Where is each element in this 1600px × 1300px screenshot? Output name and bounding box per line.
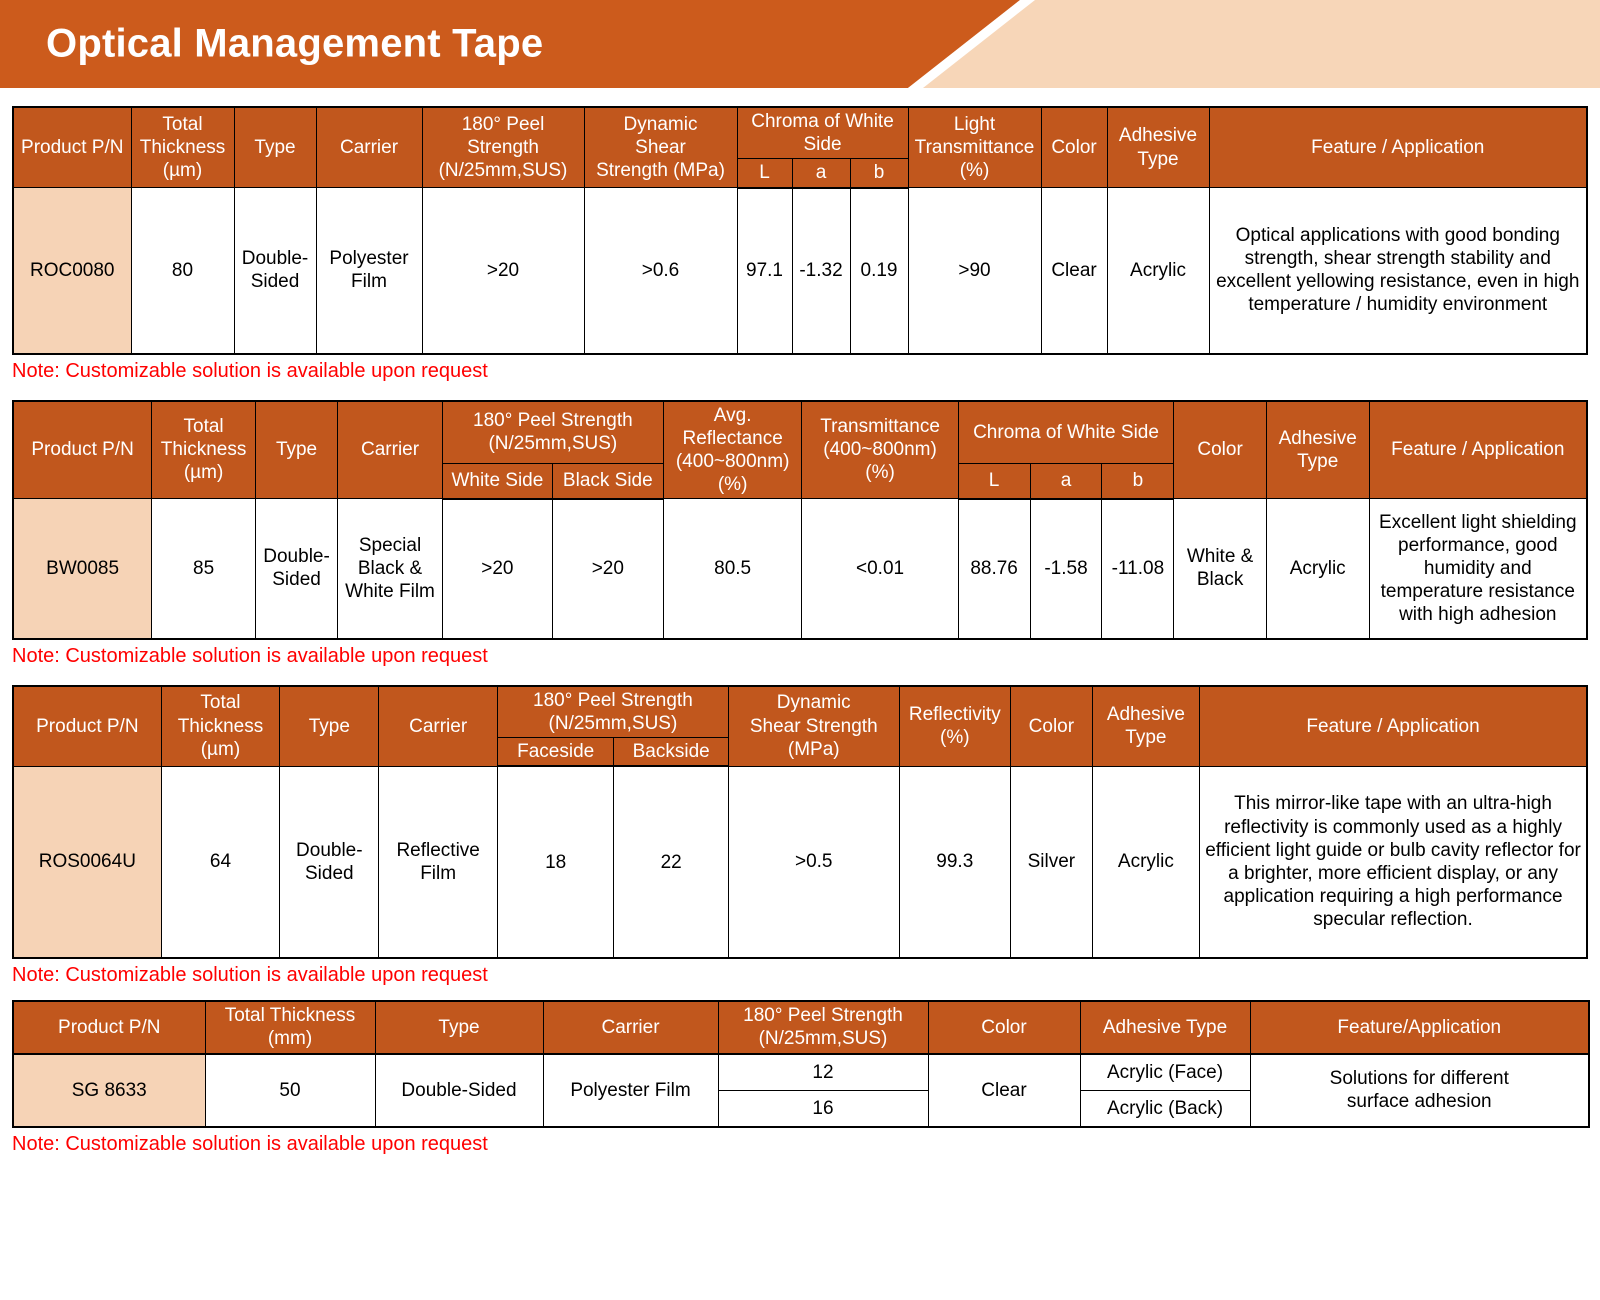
th-total-thickness-l1: Total [184, 416, 224, 437]
th-type: Type [280, 686, 379, 767]
th-product-pn: Product P/N [13, 401, 152, 499]
th-carrier: Carrier [338, 401, 443, 499]
th-peel-faceside: Faceside [497, 738, 614, 767]
cell-type: Double-Sided [375, 1054, 543, 1127]
th-peel-strength: 180° Peel Strength (N/25mm,SUS) [718, 1001, 928, 1053]
cell-feature-l1: Solutions for different [1330, 1068, 1509, 1089]
th-total-thickness-l3: (µm) [163, 160, 202, 181]
th-total-thickness: Total Thickness (µm) [152, 401, 256, 499]
table-row: ROC0080 80 Double-Sided Polyester Film >… [13, 188, 1587, 354]
table-roc0080: Product P/N Total Thickness (µm) Type Ca… [12, 106, 1588, 355]
th-peel-l3: (N/25mm,SUS) [439, 160, 568, 181]
th-peel-white-side: White Side [442, 464, 552, 499]
cell-carrier: Polyester Film [316, 188, 422, 354]
table-row: BW0085 85 Double-Sided Special Black & W… [13, 499, 1587, 639]
cell-feature-application: This mirror-like tape with an ultra-high… [1200, 766, 1587, 958]
cell-feature-application: Solutions for different surface adhesion [1250, 1054, 1589, 1127]
th-total-thickness: Total Thickness (mm) [205, 1001, 375, 1053]
th-light-l2: Transmittance [915, 137, 1035, 158]
th-peel-l1: 180° Peel Strength [533, 690, 693, 711]
th-adhesive-type: Adhesive Type [1107, 107, 1209, 188]
cell-type: Double-Sided [234, 188, 316, 354]
cell-reflectivity: 99.3 [899, 766, 1010, 958]
table-row: ROS0064U 64 Double-Sided Reflective Film… [13, 766, 1587, 958]
cell-avg-reflectance: 80.5 [663, 499, 802, 639]
table-ros0064u-head: Product P/N Total Thickness (µm) Type Ca… [13, 686, 1587, 767]
th-feature-application: Feature / Application [1369, 401, 1587, 499]
cell-color: Silver [1010, 766, 1092, 958]
table-sg8633-head: Product P/N Total Thickness (mm) Type Ca… [13, 1001, 1589, 1053]
th-feature-application: Feature / Application [1209, 107, 1587, 188]
th-total-thickness-l2: Thickness [140, 137, 226, 158]
th-avg-refl-l3: (400~800nm) [676, 451, 790, 472]
th-adhesive-type: Adhesive Type [1080, 1001, 1250, 1053]
th-product-pn: Product P/N [13, 686, 161, 767]
th-transmittance-l2: (400~800nm) [823, 439, 937, 460]
th-total-thickness-l1: Total [200, 692, 240, 713]
cell-adhesive-type: Acrylic [1092, 766, 1199, 958]
th-reflectivity-l1: Reflectivity [909, 704, 1001, 725]
spacer-3 [0, 986, 1600, 1000]
cell-adhesive-type: Acrylic [1266, 499, 1369, 639]
th-color: Color [928, 1001, 1080, 1053]
table-ros0064u-body: ROS0064U 64 Double-Sided Reflective Film… [13, 766, 1587, 958]
th-carrier: Carrier [543, 1001, 718, 1053]
page-root: Optical Management Tape Product P/N Tota… [0, 0, 1600, 1300]
cell-light-transmittance: >90 [908, 188, 1041, 354]
th-peel-l1: 180° Peel [462, 114, 545, 135]
th-total-thickness-l1: Total Thickness [225, 1005, 356, 1026]
th-adhesive-l2: Type [1137, 149, 1178, 170]
cell-chroma-b: -11.08 [1102, 499, 1174, 639]
th-peel-l1: 180° Peel Strength [743, 1005, 903, 1026]
cell-peel-white-side: >20 [442, 499, 552, 639]
th-chroma-white-side: Chroma of White Side [737, 107, 908, 159]
th-reflectivity-l2: (%) [940, 727, 970, 748]
cell-peel-bottom: 16 [719, 1091, 928, 1126]
cell-chroma-l: 97.1 [737, 188, 792, 354]
note-table-4: Note: Customizable solution is available… [12, 1133, 1600, 1155]
th-color: Color [1010, 686, 1092, 767]
th-chroma-white-side: Chroma of White Side [958, 401, 1174, 464]
spacer-1 [0, 382, 1600, 400]
cell-product-pn: ROC0080 [13, 188, 131, 354]
cell-product-pn: BW0085 [13, 499, 152, 639]
cell-chroma-b: 0.19 [850, 188, 908, 354]
header-row-1: Product P/N Total Thickness (µm) Type Ca… [13, 401, 1587, 464]
cell-transmittance: <0.01 [802, 499, 958, 639]
th-reflectivity: Reflectivity (%) [899, 686, 1010, 767]
th-transmittance-l1: Transmittance [820, 416, 940, 437]
header-row-1: Product P/N Total Thickness (µm) Type Ca… [13, 686, 1587, 738]
th-light-l1: Light [954, 114, 995, 135]
cell-adhesive-stack: Acrylic (Face) Acrylic (Back) [1080, 1054, 1250, 1127]
th-feature-application: Feature / Application [1200, 686, 1587, 767]
th-total-thickness: Total Thickness (µm) [131, 107, 234, 188]
th-feature-application: Feature/Application [1250, 1001, 1589, 1053]
note-table-2: Note: Customizable solution is available… [12, 645, 1600, 667]
th-chroma-b: b [1102, 464, 1174, 499]
table-sg8633: Product P/N Total Thickness (mm) Type Ca… [12, 1000, 1590, 1128]
cell-peel-strength-stack: 12 16 [718, 1054, 928, 1127]
note-table-3: Note: Customizable solution is available… [12, 964, 1600, 986]
cell-dynamic-shear: >0.5 [728, 766, 899, 958]
th-dynamic-l1: Dynamic [777, 692, 851, 713]
page-banner: Optical Management Tape [0, 0, 1600, 88]
cell-peel-top: 12 [719, 1055, 928, 1091]
cell-peel-black-side: >20 [552, 499, 663, 639]
th-dynamic-l2: Shear Strength [750, 716, 878, 737]
th-carrier: Carrier [316, 107, 422, 188]
th-chroma-b: b [850, 159, 908, 188]
cell-peel-faceside: 18 [497, 766, 614, 958]
th-chroma-a: a [792, 159, 850, 188]
header-row-1: Product P/N Total Thickness (mm) Type Ca… [13, 1001, 1589, 1053]
table-ros0064u: Product P/N Total Thickness (µm) Type Ca… [12, 685, 1588, 960]
th-avg-reflectance: Avg. Reflectance (400~800nm) (%) [663, 401, 802, 499]
th-total-thickness-l3: (µm) [184, 462, 223, 483]
table-ros0064u-wrapper: Product P/N Total Thickness (µm) Type Ca… [12, 685, 1588, 960]
cell-total-thickness: 85 [152, 499, 256, 639]
th-type: Type [234, 107, 316, 188]
spacer-2 [0, 667, 1600, 685]
th-transmittance-l3: (%) [865, 462, 895, 483]
th-color: Color [1041, 107, 1107, 188]
cell-chroma-a: -1.32 [792, 188, 850, 354]
cell-dynamic-shear: >0.6 [584, 188, 737, 354]
th-total-thickness-l2: Thickness [161, 439, 247, 460]
th-peel-l2: Strength [467, 137, 539, 158]
th-adhesive-type: Adhesive Type [1266, 401, 1369, 499]
th-total-thickness-l2: (mm) [268, 1028, 312, 1049]
th-transmittance: Transmittance (400~800nm) (%) [802, 401, 958, 499]
table-row: SG 8633 50 Double-Sided Polyester Film 1… [13, 1054, 1589, 1127]
th-carrier: Carrier [379, 686, 498, 767]
th-adhesive-type: Adhesive Type [1092, 686, 1199, 767]
table-roc0080-body: ROC0080 80 Double-Sided Polyester Film >… [13, 188, 1587, 354]
cell-feature-application: Excellent light shielding performance, g… [1369, 499, 1587, 639]
th-peel-strength: 180° Peel Strength (N/25mm,SUS) [497, 686, 728, 738]
th-peel-strength: 180° Peel Strength (N/25mm,SUS) [422, 107, 584, 188]
th-adhesive-l1: Adhesive [1119, 125, 1197, 146]
th-peel-l2: (N/25mm,SUS) [488, 433, 617, 454]
table-roc0080-head: Product P/N Total Thickness (µm) Type Ca… [13, 107, 1587, 188]
cell-chroma-l: 88.76 [958, 499, 1030, 639]
cell-color: White & Black [1174, 499, 1266, 639]
th-product-pn: Product P/N [13, 1001, 205, 1053]
table-sg8633-wrapper: Product P/N Total Thickness (mm) Type Ca… [12, 1000, 1588, 1128]
cell-carrier: Polyester Film [543, 1054, 718, 1127]
th-total-thickness-l3: (µm) [201, 739, 240, 760]
th-peel-strength: 180° Peel Strength (N/25mm,SUS) [442, 401, 663, 464]
cell-carrier: Special Black & White Film [338, 499, 443, 639]
cell-product-pn: SG 8633 [13, 1054, 205, 1127]
th-chroma-l: L [737, 159, 792, 188]
th-adhesive-l2: Type [1125, 727, 1166, 748]
cell-total-thickness: 64 [161, 766, 280, 958]
cell-adhesive-face: Acrylic (Face) [1081, 1055, 1250, 1091]
th-peel-l1: 180° Peel Strength [473, 410, 633, 431]
cell-adhesive-type: Acrylic [1107, 188, 1209, 354]
cell-peel-backside: 22 [614, 766, 728, 958]
th-adhesive-l1: Adhesive [1107, 704, 1185, 725]
table-bw0085-wrapper: Product P/N Total Thickness (µm) Type Ca… [12, 400, 1588, 640]
th-dynamic-l2: Shear [635, 137, 686, 158]
th-dynamic-l3: (MPa) [788, 739, 840, 760]
th-avg-refl-l2: Reflectance [682, 428, 782, 449]
th-adhesive-l2: Type [1297, 451, 1338, 472]
th-dynamic-shear: Dynamic Shear Strength (MPa) [584, 107, 737, 188]
cell-feature-l2: surface adhesion [1347, 1091, 1492, 1112]
table-bw0085-body: BW0085 85 Double-Sided Special Black & W… [13, 499, 1587, 639]
th-total-thickness-l2: Thickness [178, 716, 264, 737]
th-light-transmittance: Light Transmittance (%) [908, 107, 1041, 188]
th-color: Color [1174, 401, 1266, 499]
th-peel-backside: Backside [614, 738, 728, 767]
cell-carrier: Reflective Film [379, 766, 498, 958]
th-product-pn: Product P/N [13, 107, 131, 188]
th-type: Type [375, 1001, 543, 1053]
cell-type: Double-Sided [280, 766, 379, 958]
th-total-thickness: Total Thickness (µm) [161, 686, 280, 767]
page-title: Optical Management Tape [46, 22, 543, 67]
cell-chroma-a: -1.58 [1030, 499, 1102, 639]
cell-type: Double-Sided [255, 499, 337, 639]
th-total-thickness-l1: Total [162, 114, 202, 135]
th-adhesive-l1: Adhesive [1279, 428, 1357, 449]
table-sg8633-body: SG 8633 50 Double-Sided Polyester Film 1… [13, 1054, 1589, 1127]
cell-color: Clear [1041, 188, 1107, 354]
table-bw0085-head: Product P/N Total Thickness (µm) Type Ca… [13, 401, 1587, 499]
th-peel-l2: (N/25mm,SUS) [549, 713, 678, 734]
header-row-1: Product P/N Total Thickness (µm) Type Ca… [13, 107, 1587, 159]
th-chroma-a: a [1030, 464, 1102, 499]
cell-total-thickness: 80 [131, 188, 234, 354]
th-avg-refl-l1: Avg. [714, 405, 752, 426]
th-dynamic-shear: Dynamic Shear Strength (MPa) [728, 686, 899, 767]
th-chroma-l: L [958, 464, 1030, 499]
th-peel-black-side: Black Side [552, 464, 663, 499]
cell-peel-strength: >20 [422, 188, 584, 354]
note-table-1: Note: Customizable solution is available… [12, 360, 1600, 382]
th-avg-refl-l4: (%) [718, 474, 748, 495]
cell-product-pn: ROS0064U [13, 766, 161, 958]
cell-total-thickness: 50 [205, 1054, 375, 1127]
table-bw0085: Product P/N Total Thickness (µm) Type Ca… [12, 400, 1588, 640]
spacer-top [0, 88, 1600, 106]
cell-adhesive-back: Acrylic (Back) [1081, 1091, 1250, 1126]
table-roc0080-wrapper: Product P/N Total Thickness (µm) Type Ca… [12, 106, 1588, 355]
th-dynamic-l1: Dynamic [624, 114, 698, 135]
th-peel-l2: (N/25mm,SUS) [759, 1028, 888, 1049]
th-dynamic-l3: Strength (MPa) [596, 160, 725, 181]
th-light-l3: (%) [960, 160, 990, 181]
cell-feature-application: Optical applications with good bonding s… [1209, 188, 1587, 354]
th-type: Type [255, 401, 337, 499]
cell-color: Clear [928, 1054, 1080, 1127]
